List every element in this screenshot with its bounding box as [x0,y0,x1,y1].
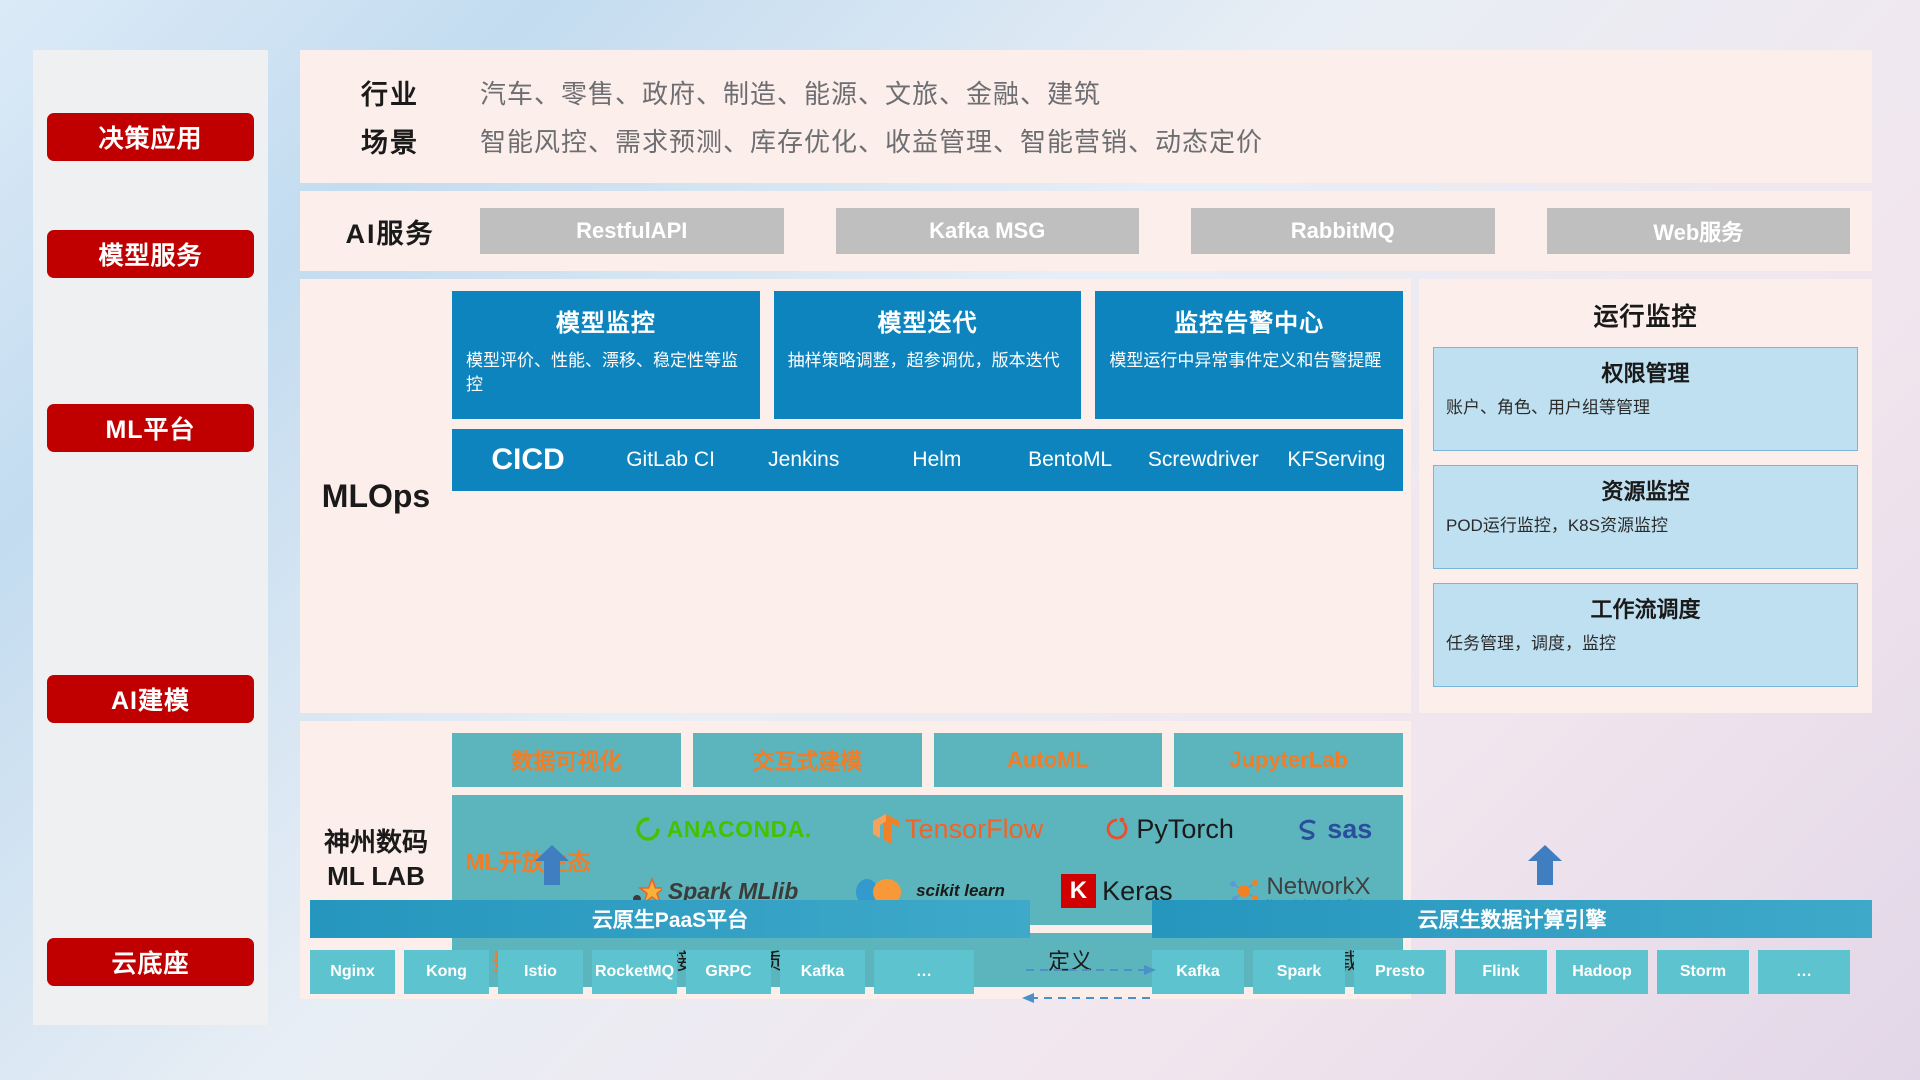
anaconda-icon [635,816,661,842]
paas-chip-kong[interactable]: Kong [404,950,489,994]
rail-chip-decision-apps[interactable]: 决策应用 [47,113,254,161]
engine-chip-spark[interactable]: Spark [1253,950,1345,994]
mlops-label: MLOps [300,291,452,701]
engine-chip-storm[interactable]: Storm [1657,950,1749,994]
scikit-learn-wordmark: scikit learn [916,881,1005,901]
cicd-bar: CICD GitLab CI Jenkins Helm BentoML Scre… [452,429,1403,491]
rail-chip-ai-modeling[interactable]: AI建模 [47,675,254,723]
bidirectional-dashed-connector-icon [1022,960,1156,1008]
paas-chip-nginx[interactable]: Nginx [310,950,395,994]
networkx-wordmark: NetworkX [1266,875,1375,899]
anaconda-logo: ANACONDA. [635,816,812,843]
ai-service-box-group: RestfulAPI Kafka MSG RabbitMQ Web服务 [480,208,1872,254]
card-desc: POD运行监控，K8S资源监控 [1446,514,1845,538]
band-mlops: MLOps 模型监控 模型评价、性能、漂移、稳定性等监控 模型迭代 抽样策略调整… [300,279,1411,713]
monitor-card-permission[interactable]: 权限管理 账户、角色、用户组等管理 [1433,347,1858,451]
ml-lab-label-line2: ML LAB [327,860,425,894]
layer-rail: 决策应用 模型服务 ML平台 AI建模 云底座 [33,50,268,1025]
card-title: 模型监控 [466,303,746,338]
card-title: 资源监控 [1446,474,1845,506]
ecosystem-label: ML开放生态 [452,843,604,877]
engine-chip-presto[interactable]: Presto [1354,950,1446,994]
card-title: 工作流调度 [1446,592,1845,624]
row-mlops-and-monitor: MLOps 模型监控 模型评价、性能、漂移、稳定性等监控 模型迭代 抽样策略调整… [300,279,1872,713]
rail-chip-cloud-base[interactable]: 云底座 [47,938,254,986]
engine-chip-more[interactable]: … [1758,950,1850,994]
card-desc: 抽样策略调整，超参调优，版本迭代 [788,349,1068,373]
paas-chip-rocketmq[interactable]: RocketMQ [592,950,677,994]
tool-box-data-visualization[interactable]: 数据可视化 [452,733,681,787]
ml-lab-label-line1: 神州数码 [324,826,428,860]
card-desc: 模型运行中异常事件定义和告警提醒 [1109,349,1389,373]
cicd-item-gitlab-ci[interactable]: GitLab CI [604,447,737,473]
engine-header: 云原生数据计算引擎 [1152,900,1872,938]
engine-chip-flink[interactable]: Flink [1455,950,1547,994]
rail-chip-model-service[interactable]: 模型服务 [47,230,254,278]
row-scenario: 场景 智能风控、需求预测、库存优化、收益管理、智能营销、动态定价 [300,116,1872,164]
mlops-content: 模型监控 模型评价、性能、漂移、稳定性等监控 模型迭代 抽样策略调整，超参调优，… [452,291,1411,701]
service-box-web-service[interactable]: Web服务 [1547,208,1851,254]
ml-tool-group: 数据可视化 交互式建模 AutoML JupyterLab [452,733,1403,787]
band-runtime-monitor: 运行监控 权限管理 账户、角色、用户组等管理 资源监控 POD运行监控，K8S资… [1419,279,1872,713]
engine-chip-kafka[interactable]: Kafka [1152,950,1244,994]
anaconda-wordmark: ANACONDA. [667,816,812,843]
cicd-item-bentoml[interactable]: BentoML [1004,447,1137,473]
tool-box-interactive-modeling[interactable]: 交互式建模 [693,733,922,787]
pytorch-icon [1104,815,1130,843]
rail-chip-ml-platform[interactable]: ML平台 [47,404,254,452]
tensorflow-icon [873,814,899,844]
monitor-card-resource[interactable]: 资源监控 POD运行监控，K8S资源监控 [1433,465,1858,569]
cicd-item-jenkins[interactable]: Jenkins [737,447,870,473]
card-desc: 账户、角色、用户组等管理 [1446,396,1845,420]
monitor-card-workflow[interactable]: 工作流调度 任务管理，调度，监控 [1433,583,1858,687]
service-box-restful-api[interactable]: RestfulAPI [480,208,784,254]
card-desc: 任务管理，调度，监控 [1446,632,1845,656]
arrow-up-paas-icon [535,845,569,885]
tensorflow-wordmark: TensorFlow [905,814,1043,845]
cloud-group-compute-engine: 云原生数据计算引擎 Kafka Spark Presto Flink Hadoo… [1152,900,1872,994]
pytorch-logo: PyTorch [1104,814,1234,845]
service-box-rabbitmq[interactable]: RabbitMQ [1191,208,1495,254]
ai-service-label: AI服务 [300,212,480,251]
scenario-label: 场景 [300,121,480,160]
mlops-card-group: 模型监控 模型评价、性能、漂移、稳定性等监控 模型迭代 抽样策略调整，超参调优，… [452,291,1403,419]
cicd-item-helm[interactable]: Helm [870,447,1003,473]
paas-chip-kafka[interactable]: Kafka [780,950,865,994]
card-title: 监控告警中心 [1109,303,1389,338]
cicd-label: CICD [452,443,604,477]
band-ai-services: AI服务 RestfulAPI Kafka MSG RabbitMQ Web服务 [300,191,1872,271]
mlops-card-alert-center[interactable]: 监控告警中心 模型运行中异常事件定义和告警提醒 [1095,291,1403,419]
tensorflow-logo: TensorFlow [873,814,1043,845]
band-decision-apps: 行业 汽车、零售、政府、制造、能源、文旅、金融、建筑 场景 智能风控、需求预测、… [300,50,1872,183]
paas-chip-grpc[interactable]: GRPC [686,950,771,994]
row-industry: 行业 汽车、零售、政府、制造、能源、文旅、金融、建筑 [300,68,1872,116]
industry-label: 行业 [300,73,480,112]
paas-chip-more[interactable]: … [874,950,974,994]
engine-chip-hadoop[interactable]: Hadoop [1556,950,1648,994]
cicd-item-group: GitLab CI Jenkins Helm BentoML Screwdriv… [604,447,1403,473]
sas-logo: sas [1295,814,1372,845]
sas-wordmark: sas [1327,814,1372,845]
paas-chip-istio[interactable]: Istio [498,950,583,994]
tool-box-automl[interactable]: AutoML [934,733,1163,787]
card-desc: 模型评价、性能、漂移、稳定性等监控 [466,349,746,397]
paas-chip-group: Nginx Kong Istio RocketMQ GRPC Kafka … [310,950,1030,994]
cicd-item-screwdriver[interactable]: Screwdriver [1137,447,1270,473]
industry-values: 汽车、零售、政府、制造、能源、文旅、金融、建筑 [480,74,1101,111]
arrow-up-engine-icon [1528,845,1562,885]
card-title: 权限管理 [1446,356,1845,388]
card-title: 模型迭代 [788,303,1068,338]
runtime-monitor-title: 运行监控 [1433,297,1858,333]
sas-icon [1295,816,1321,842]
cloud-group-paas: 云原生PaaS平台 Nginx Kong Istio RocketMQ GRPC… [310,900,1030,994]
logo-line-1: ANACONDA. TensorFlow [604,800,1403,858]
service-box-kafka-msg[interactable]: Kafka MSG [836,208,1140,254]
engine-chip-group: Kafka Spark Presto Flink Hadoop Storm … [1152,950,1872,994]
cicd-item-kfserving[interactable]: KFServing [1270,447,1403,473]
mlops-card-model-iteration[interactable]: 模型迭代 抽样策略调整，超参调优，版本迭代 [774,291,1082,419]
scenario-values: 智能风控、需求预测、库存优化、收益管理、智能营销、动态定价 [480,122,1263,159]
tool-box-jupyterlab[interactable]: JupyterLab [1174,733,1403,787]
paas-header: 云原生PaaS平台 [310,900,1030,938]
pytorch-wordmark: PyTorch [1136,814,1234,845]
cloud-foundation: 云原生PaaS平台 Nginx Kong Istio RocketMQ GRPC… [310,900,1872,1045]
mlops-card-model-monitoring[interactable]: 模型监控 模型评价、性能、漂移、稳定性等监控 [452,291,760,419]
